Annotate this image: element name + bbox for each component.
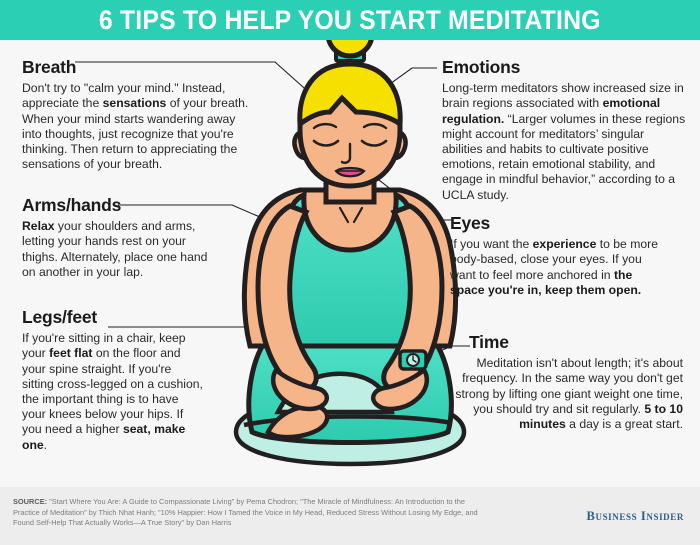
tip-block-arms-hands: Arms/hands Relax your shoulders and arms… bbox=[22, 196, 208, 280]
tip-block-eyes: Eyes If you want the experience to be mo… bbox=[450, 214, 668, 298]
tip-body-legs-feet: If you're sitting in a chair, keep your … bbox=[22, 331, 204, 453]
tip-block-time: Time Meditation isn't about length; it's… bbox=[455, 333, 683, 432]
tip-body-breath: Don't try to "calm your mind." Instead, … bbox=[22, 81, 254, 172]
tip-title-arms-hands: Arms/hands bbox=[22, 196, 208, 215]
page-title: 6 tips to help you start meditating bbox=[99, 5, 601, 36]
tip-block-legs-feet: Legs/feet If you're sitting in a chair, … bbox=[22, 308, 204, 453]
tip-title-legs-feet: Legs/feet bbox=[22, 308, 204, 327]
business-insider-logo: Business Insider bbox=[587, 509, 684, 524]
source-body: "Start Where You Are: A Guide to Compass… bbox=[13, 497, 478, 527]
tip-title-time: Time bbox=[469, 333, 683, 352]
tip-block-emotions: Emotions Long-term meditators show incre… bbox=[442, 58, 686, 203]
tip-title-breath: Breath bbox=[22, 58, 254, 77]
lips bbox=[336, 168, 364, 176]
tip-title-eyes: Eyes bbox=[450, 214, 668, 233]
tip-title-emotions: Emotions bbox=[442, 58, 686, 77]
wrist-watch bbox=[400, 351, 426, 369]
tip-body-time: Meditation isn't about length; it's abou… bbox=[455, 356, 683, 432]
tip-body-emotions: Long-term meditators show increased size… bbox=[442, 81, 686, 203]
tip-body-eyes: If you want the experience to be more bo… bbox=[450, 237, 668, 298]
footer-bar: SOURCE: "Start Where You Are: A Guide to… bbox=[0, 487, 700, 545]
tip-body-arms-hands: Relax your shoulders and arms, letting y… bbox=[22, 219, 208, 280]
header-bar: 6 tips to help you start meditating bbox=[0, 0, 700, 40]
source-label: SOURCE: bbox=[13, 497, 47, 506]
source-citation: SOURCE: "Start Where You Are: A Guide to… bbox=[13, 497, 491, 529]
tip-block-breath: Breath Don't try to "calm your mind." In… bbox=[22, 58, 254, 172]
infographic-page: 6 tips to help you start meditating bbox=[0, 0, 700, 545]
